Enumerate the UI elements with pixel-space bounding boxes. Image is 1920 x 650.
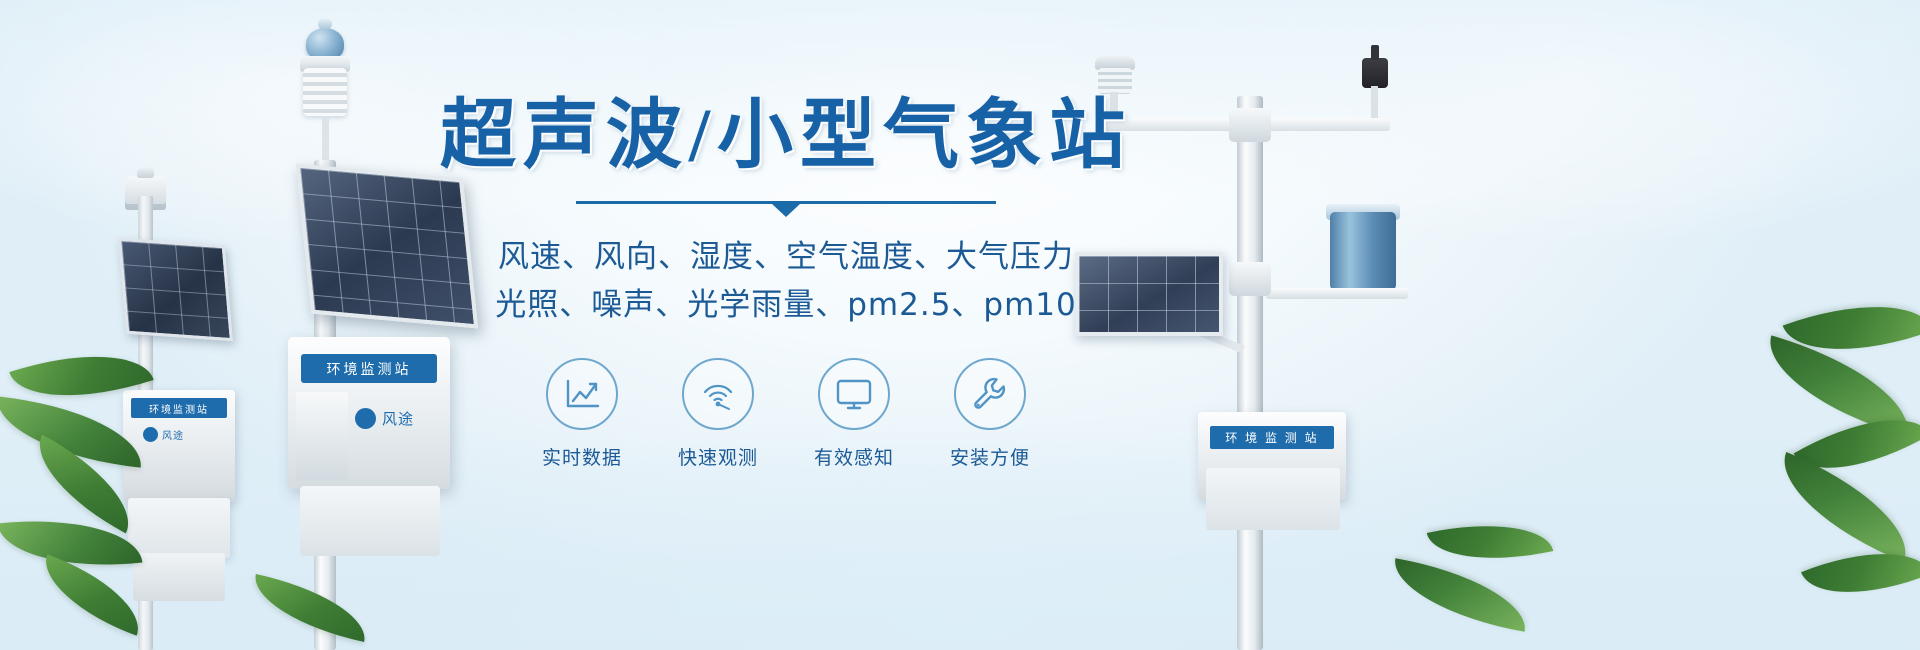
leaf-decoration-icon — [247, 574, 374, 642]
leaf-decoration-icon — [1765, 452, 1920, 562]
leaf-decoration-icon — [1427, 508, 1554, 576]
feature-item-effective-sensing[interactable]: 有效感知 — [808, 358, 900, 470]
left-small-station-base-lower — [133, 553, 225, 601]
feature-label: 安装方便 — [944, 443, 1036, 470]
brand-name-text: 风途 — [162, 427, 184, 442]
right-station-label-text: 环 境 监 测 站 — [1225, 429, 1318, 446]
brand-mark-icon — [355, 408, 376, 429]
right-station-collar-top — [1229, 108, 1271, 142]
center-station-label-text: 环境监测站 — [327, 359, 412, 379]
right-station-label-strip: 环 境 监 测 站 — [1210, 426, 1334, 449]
left-small-station-brand-logo: 风途 — [143, 426, 215, 443]
product-banner: 环境监测站 风途 环境监测站 风途 环 境 监 测 站 — [0, 0, 1920, 650]
right-station-wind-vane-stem — [1371, 86, 1378, 122]
wrench-icon — [971, 375, 1009, 413]
feature-item-easy-installation[interactable]: 安装方便 — [944, 358, 1036, 470]
feature-item-realtime-data[interactable]: 实时数据 — [536, 358, 628, 470]
subtitle-line-1: 风速、风向、湿度、空气温度、大气压力 — [436, 235, 1136, 280]
line-chart-icon — [563, 377, 601, 411]
feature-list: 实时数据 快速观测 — [436, 358, 1136, 470]
left-small-station-solar-panel — [118, 238, 233, 342]
feature-icon-circle — [682, 358, 754, 430]
left-small-station-base-upper — [128, 498, 230, 558]
center-station-base — [300, 486, 440, 556]
banner-content: 超声波/小型气象站 风速、风向、湿度、空气温度、大气压力 光照、噪声、光学雨量、… — [436, 96, 1136, 496]
right-station-rain-gauge-icon — [1330, 212, 1396, 290]
right-station-cabinet-lower — [1206, 468, 1340, 530]
brand-mark-icon — [143, 427, 158, 442]
center-station-label-strip: 环境监测站 — [301, 354, 437, 383]
feature-icon-circle — [546, 358, 618, 430]
leaf-decoration-icon — [1387, 558, 1534, 632]
page-title: 超声波/小型气象站 — [436, 96, 1136, 177]
feature-item-fast-observation[interactable]: 快速观测 — [672, 358, 764, 470]
brand-name-text: 风途 — [382, 408, 414, 429]
feature-label: 实时数据 — [536, 443, 628, 470]
right-station-collar-mid — [1229, 262, 1271, 296]
center-station-cabinet-door — [296, 392, 348, 480]
center-station-brand-logo: 风途 — [355, 406, 449, 430]
left-small-station-label-text: 环境监测站 — [149, 401, 209, 416]
right-station-ultrasonic-sensor-icon — [1098, 68, 1132, 94]
left-small-station-label-strip: 环境监测站 — [131, 398, 227, 418]
subtitle-line-2: 光照、噪声、光学雨量、pm2.5、pm10 — [436, 283, 1136, 328]
right-station-pole — [1237, 96, 1263, 650]
center-station-mast — [322, 116, 329, 162]
title-divider — [576, 201, 996, 217]
divider-triangle-icon — [771, 203, 801, 217]
radar-signal-icon — [699, 376, 737, 412]
feature-label: 有效感知 — [808, 443, 900, 470]
right-station-shelf — [1266, 288, 1408, 299]
feature-label: 快速观测 — [672, 443, 764, 470]
feature-icon-circle — [818, 358, 890, 430]
right-station-wind-vane-icon — [1362, 58, 1388, 88]
feature-icon-circle — [954, 358, 1026, 430]
center-station-radiation-shield — [303, 68, 347, 116]
monitor-screen-icon — [834, 377, 874, 411]
